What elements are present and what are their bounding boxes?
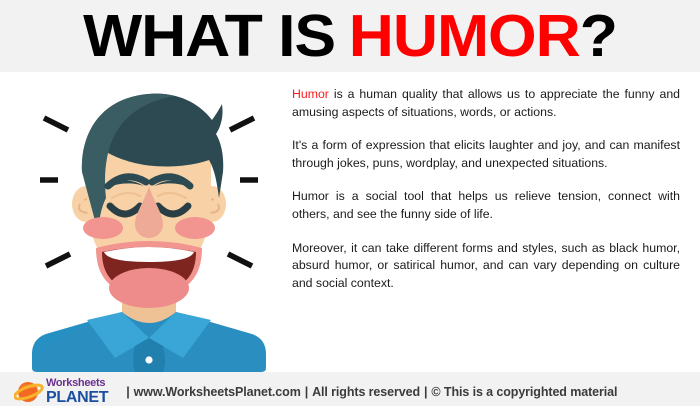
footer-separator-2: | xyxy=(305,385,308,399)
worksheets-planet-logo[interactable]: Worksheets PLANET xyxy=(14,378,108,406)
title-part-humor: HUMOR xyxy=(349,7,580,66)
description-text: Humor is a human quality that allows us … xyxy=(292,86,680,292)
footer-website[interactable]: www.WorksheetsPlanet.com xyxy=(134,385,301,399)
paragraph-1-text: is a human quality that allows us to app… xyxy=(292,87,680,119)
blush-right xyxy=(175,217,215,239)
footer-copyright-text: This is a copyrighted material xyxy=(444,385,617,399)
footer-content: Worksheets PLANET |www.WorksheetsPlanet.… xyxy=(0,378,617,406)
laughter-line-marks-right xyxy=(228,118,258,266)
copyright-icon: © xyxy=(431,385,440,399)
logo-word-planet: PLANET xyxy=(46,390,108,406)
paragraph-1: Humor is a human quality that allows us … xyxy=(292,86,680,121)
footer-separator-1: | xyxy=(126,385,129,399)
shirt-button xyxy=(145,356,152,363)
footer-credit-line: |www.WorksheetsPlanet.com|All rights res… xyxy=(122,385,617,399)
title-part-what-is: WHAT IS xyxy=(83,7,335,66)
paragraph-3: Humor is a social tool that helps us rel… xyxy=(292,188,680,223)
mouth xyxy=(96,241,202,308)
laughing-man-illustration xyxy=(18,76,280,372)
paragraph-4: Moreover, it can take different forms an… xyxy=(292,240,680,293)
title-part-question-mark: ? xyxy=(580,7,617,66)
tongue xyxy=(109,268,189,308)
footer-separator-3: | xyxy=(424,385,427,399)
bottom-edge xyxy=(0,406,700,412)
poster-root: WHAT IS HUMOR ? xyxy=(0,0,700,412)
blush-left xyxy=(83,217,123,239)
footer-rights: All rights reserved xyxy=(312,385,420,399)
planet-icon xyxy=(14,379,44,405)
logo-wordmark: Worksheets PLANET xyxy=(46,378,108,406)
keyword-humor: Humor xyxy=(292,87,329,101)
page-title: WHAT IS HUMOR ? xyxy=(0,0,700,72)
paragraph-2: It's a form of expression that elicits l… xyxy=(292,137,680,172)
logo-word-worksheets: Worksheets xyxy=(46,378,108,389)
laughter-line-marks-left xyxy=(40,118,70,266)
